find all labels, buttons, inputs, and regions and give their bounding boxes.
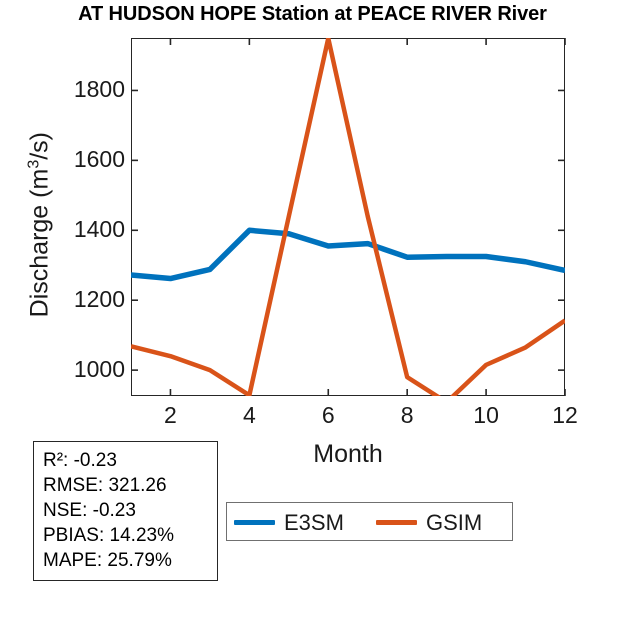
stat-r2: R²: -0.23 xyxy=(43,448,217,473)
legend-swatch-e3sm xyxy=(234,520,275,525)
legend-item-e3sm[interactable]: E3SM xyxy=(234,503,344,542)
legend-label-gsim: GSIM xyxy=(426,512,482,534)
x-tick-label: 10 xyxy=(456,404,516,427)
y-axis-label-base: Discharge (m xyxy=(26,169,54,318)
y-axis-label: Discharge (m3/s) xyxy=(25,45,54,405)
x-tick-label: 6 xyxy=(298,404,358,427)
chart-root: AT HUDSON HOPE Station at PEACE RIVER Ri… xyxy=(0,0,625,625)
x-tick-label: 4 xyxy=(219,404,279,427)
legend[interactable]: E3SM GSIM xyxy=(226,502,513,541)
y-axis-label-exponent: 3 xyxy=(25,160,42,169)
y-axis-label-tail: /s) xyxy=(26,132,54,160)
legend-label-e3sm: E3SM xyxy=(284,512,344,534)
x-tick-label: 8 xyxy=(377,404,437,427)
legend-item-gsim[interactable]: GSIM xyxy=(376,503,482,542)
legend-swatch-gsim xyxy=(376,520,417,525)
plot-area xyxy=(131,38,565,396)
statistics-box: R²: -0.23 RMSE: 321.26 NSE: -0.23 PBIAS:… xyxy=(33,441,218,581)
x-tick-label: 12 xyxy=(535,404,595,427)
x-tick-label: 2 xyxy=(140,404,200,427)
stat-nse: NSE: -0.23 xyxy=(43,498,217,523)
stat-mape: MAPE: 25.79% xyxy=(43,548,217,573)
stat-rmse: RMSE: 321.26 xyxy=(43,473,217,498)
stat-pbias: PBIAS: 14.23% xyxy=(43,523,217,548)
